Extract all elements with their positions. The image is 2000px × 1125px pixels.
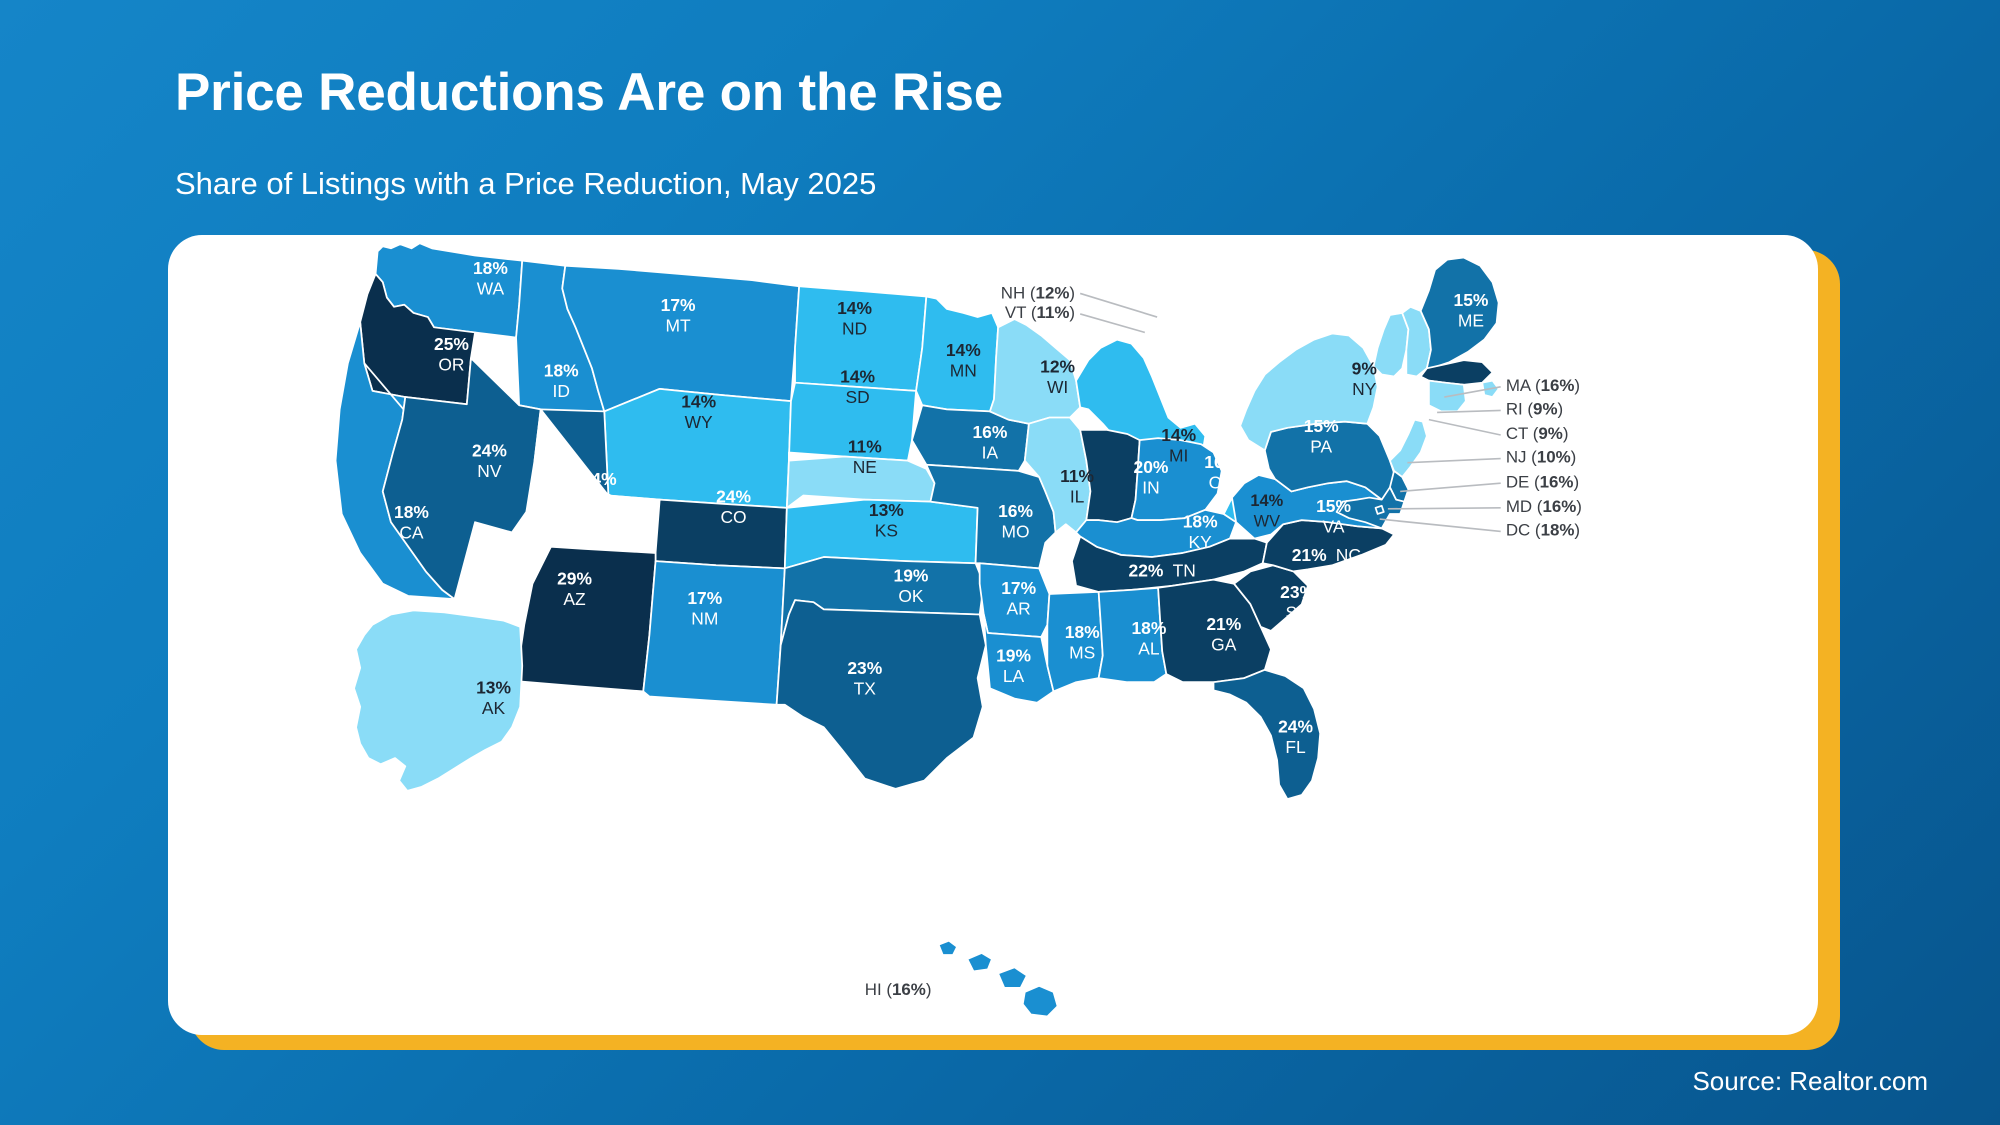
leader-line-nj <box>1407 459 1500 463</box>
state-label-me: 15%ME <box>1454 290 1489 331</box>
state-nj[interactable] <box>1390 420 1427 477</box>
callout-ct: CT (9%) <box>1506 424 1569 443</box>
page-subtitle: Share of Listings with a Price Reduction… <box>175 166 876 202</box>
callout-nj: NJ (10%) <box>1506 448 1576 467</box>
slide-root: Price Reductions Are on the Rise Share o… <box>0 0 2000 1125</box>
leader-line-ct <box>1429 420 1501 435</box>
callout-hi: HI (16%) <box>865 980 932 999</box>
state-hi[interactable] <box>939 941 1058 1017</box>
page-title: Price Reductions Are on the Rise <box>175 62 1003 123</box>
state-label-or: 25%OR <box>434 334 469 375</box>
leader-line-nh <box>1080 293 1157 317</box>
state-mt[interactable] <box>562 266 799 412</box>
state-vt[interactable] <box>1374 313 1409 377</box>
callout-ma: MA (16%) <box>1506 376 1580 395</box>
state-nm[interactable] <box>643 561 785 705</box>
map-card: 18%WA25%OR18%ID17%MT14%WY14%ND14%SD14%MN… <box>168 235 1818 1035</box>
callout-md: MD (16%) <box>1506 497 1582 516</box>
callout-ri: RI (9%) <box>1506 399 1563 418</box>
state-label-sc: 23%SC <box>1280 582 1315 623</box>
callout-vt: VT (11%) <box>1005 303 1075 322</box>
leader-line-de <box>1400 483 1501 491</box>
state-dc[interactable] <box>1376 506 1384 514</box>
state-label-wa: 18%WA <box>473 258 508 299</box>
leader-line-md <box>1388 508 1501 509</box>
state-label-tn: 22%TN <box>1129 561 1196 581</box>
state-label-co: 24%CO <box>716 487 751 528</box>
state-label-mn: 14%MN <box>946 340 981 381</box>
state-label-ms: 18%MS <box>1065 622 1100 663</box>
state-label-nc: 21%NC <box>1292 545 1361 565</box>
callout-nh: NH (12%) <box>1001 284 1075 303</box>
state-label-wy: 14%WY <box>681 391 716 432</box>
state-label-oh: 16%OH <box>1204 452 1239 493</box>
state-label-nm: 17%NM <box>687 588 722 629</box>
callout-de: DE (16%) <box>1506 472 1579 491</box>
state-label-mo: 16%MO <box>998 501 1033 542</box>
source-credit: Source: Realtor.com <box>1692 1066 1928 1097</box>
state-label-ny: 9%NY <box>1352 358 1378 399</box>
us-choropleth-map: 18%WA25%OR18%ID17%MT14%WY14%ND14%SD14%MN… <box>168 235 1818 1035</box>
state-tx[interactable] <box>777 600 986 789</box>
callout-dc: DC (18%) <box>1506 521 1580 540</box>
leader-line-vt <box>1080 314 1145 332</box>
leader-line-dc <box>1380 519 1501 531</box>
